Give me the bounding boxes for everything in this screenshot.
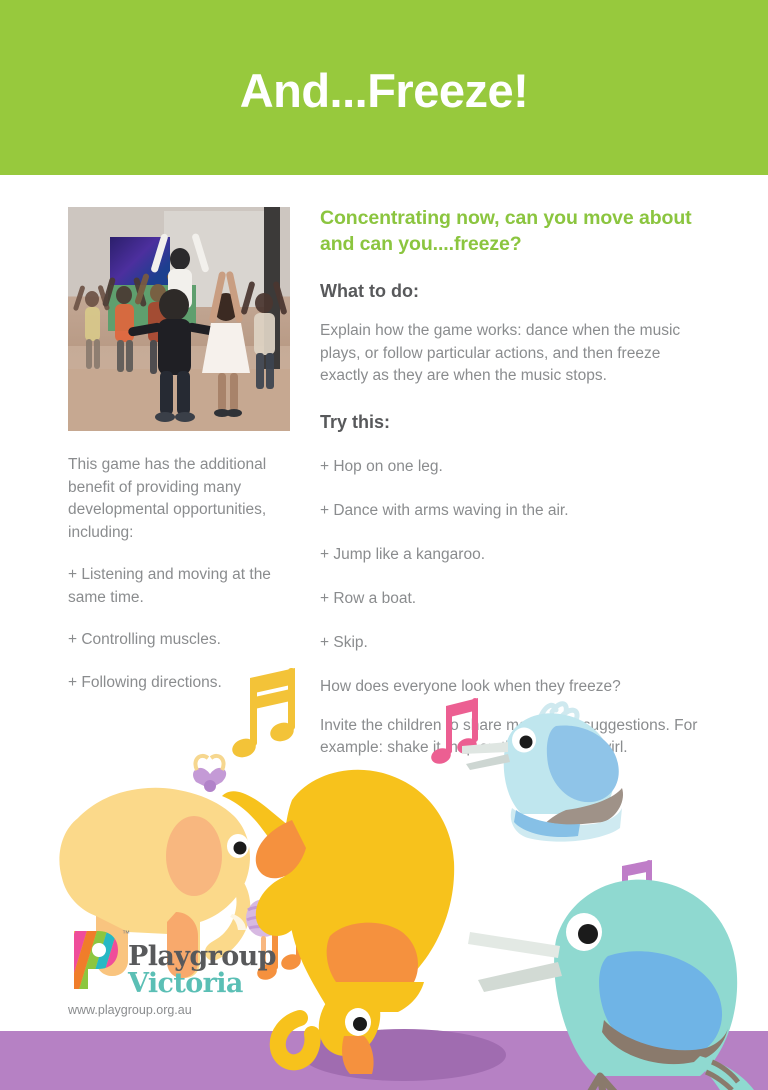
freeze-question: How does everyone look when they freeze? [320, 676, 708, 698]
trademark-symbol: ™ [122, 929, 130, 938]
left-benefit-item: + Controlling muscles. [68, 629, 308, 652]
page-title: And...Freeze! [0, 63, 768, 119]
logo-text-victoria: Victoria [128, 968, 243, 999]
children-dancing-photo [68, 207, 290, 431]
playgroup-p-mark [66, 927, 122, 993]
try-this-item: + Skip. [320, 632, 708, 654]
ground-band [0, 1031, 768, 1090]
left-column: This game has the additional benefit of … [68, 207, 308, 694]
closing-paragraph: Invite the children to share movement su… [320, 715, 708, 760]
photo-figures [68, 207, 290, 431]
left-benefit-item: + Following directions. [68, 672, 308, 695]
purple-note [605, 860, 653, 924]
try-this-item: + Row a boat. [320, 588, 708, 610]
section-lead-heading: Concentrating now, can you move about an… [320, 205, 708, 257]
poster-page: And...Freeze! [0, 0, 768, 1090]
playgroup-victoria-logo[interactable]: ™ Playgroup Victoria www.playgroup.org.a… [66, 925, 296, 1020]
try-this-item: + Jump like a kangaroo. [320, 544, 708, 566]
dancing-kangaroo [222, 770, 454, 1074]
logo-website-url: www.playgroup.org.au [68, 1003, 192, 1017]
elephant-bow [193, 756, 226, 792]
right-column: Concentrating now, can you move about an… [320, 205, 708, 760]
left-intro-text: This game has the additional benefit of … [68, 454, 308, 544]
left-benefit-item: + Listening and moving at the same time. [68, 564, 308, 609]
try-this-heading: Try this: [320, 410, 708, 434]
what-to-do-body: Explain how the game works: dance when t… [320, 320, 708, 388]
what-to-do-heading: What to do: [320, 279, 708, 303]
try-this-item: + Dance with arms waving in the air. [320, 500, 708, 522]
try-this-item: + Hop on one leg. [320, 456, 708, 478]
